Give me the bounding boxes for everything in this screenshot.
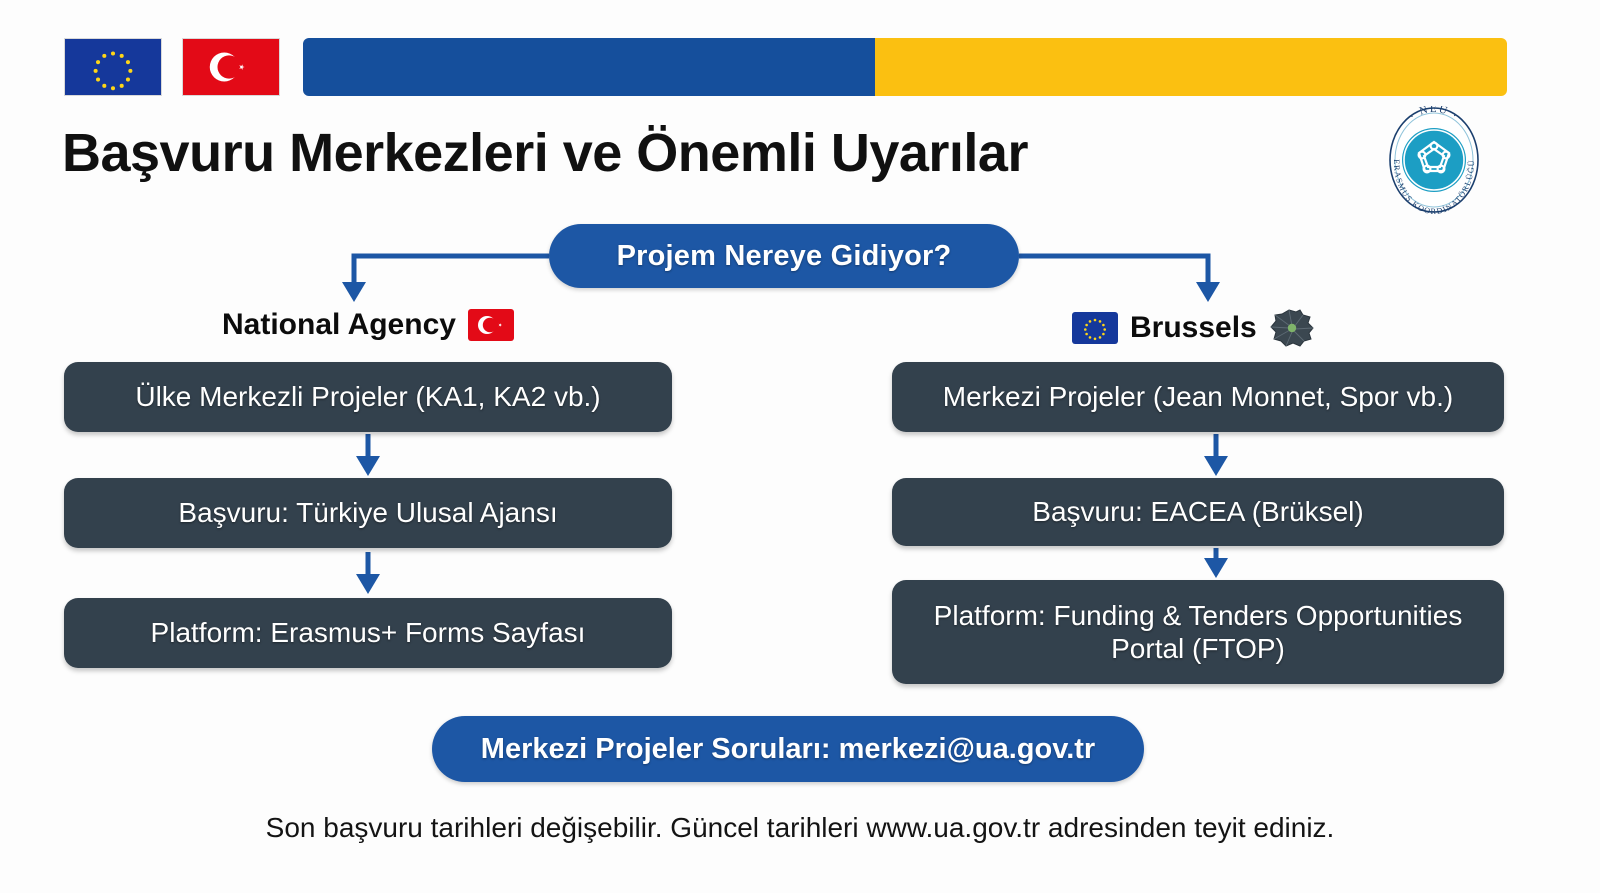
branch-heading-brussels: Brussels [1072, 308, 1315, 348]
banner-bar-yellow [875, 38, 1507, 96]
flow-box-right-3[interactable]: Platform: Funding & Tenders Opportunitie… [892, 580, 1504, 684]
page-title: Başvuru Merkezleri ve Önemli Uyarılar [62, 122, 1028, 184]
neu-erasmus-seal-icon: · NEÜ · ERASMUS KOORDİNATÖRLÜĞÜ [1372, 106, 1496, 214]
branch-heading-national-agency: National Agency [222, 308, 514, 342]
turkey-flag-icon [468, 309, 514, 341]
flow-box-left-2[interactable]: Başvuru: Türkiye Ulusal Ajansı [64, 478, 672, 548]
flow-box-label: Merkezi Projeler (Jean Monnet, Spor vb.) [925, 380, 1471, 413]
brussels-map-icon [1269, 308, 1315, 348]
banner-bar-blue [303, 38, 875, 96]
flow-box-label: Başvuru: EACEA (Brüksel) [1014, 495, 1381, 528]
root-node-label: Projem Nereye Gidiyor? [617, 240, 952, 273]
flow-box-left-1[interactable]: Ülke Merkezli Projeler (KA1, KA2 vb.) [64, 362, 672, 432]
flow-box-label: Platform: Funding & Tenders Opportunitie… [892, 599, 1504, 665]
branch-heading-label: Brussels [1130, 311, 1257, 345]
turkey-flag-icon [182, 38, 280, 96]
flow-box-right-2[interactable]: Başvuru: EACEA (Brüksel) [892, 478, 1504, 546]
root-node-projem-nereye-gidiyor[interactable]: Projem Nereye Gidiyor? [549, 224, 1019, 288]
flow-box-right-1[interactable]: Merkezi Projeler (Jean Monnet, Spor vb.) [892, 362, 1504, 432]
flow-box-left-3[interactable]: Platform: Erasmus+ Forms Sayfası [64, 598, 672, 668]
eu-flag-icon [1072, 312, 1118, 344]
eu-flag-icon [64, 38, 162, 96]
flow-box-label: Platform: Erasmus+ Forms Sayfası [133, 616, 604, 649]
flow-box-label: Ülke Merkezli Projeler (KA1, KA2 vb.) [117, 380, 618, 413]
slide-canvas: Başvuru Merkezleri ve Önemli Uyarılar [0, 0, 1600, 893]
contact-pill[interactable]: Merkezi Projeler Soruları: merkezi@ua.go… [432, 716, 1144, 782]
flow-box-label: Başvuru: Türkiye Ulusal Ajansı [160, 496, 575, 529]
contact-pill-label: Merkezi Projeler Soruları: merkezi@ua.go… [481, 733, 1095, 766]
footer-note: Son başvuru tarihleri değişebilir. Günce… [0, 812, 1600, 844]
branch-heading-label: National Agency [222, 308, 456, 342]
